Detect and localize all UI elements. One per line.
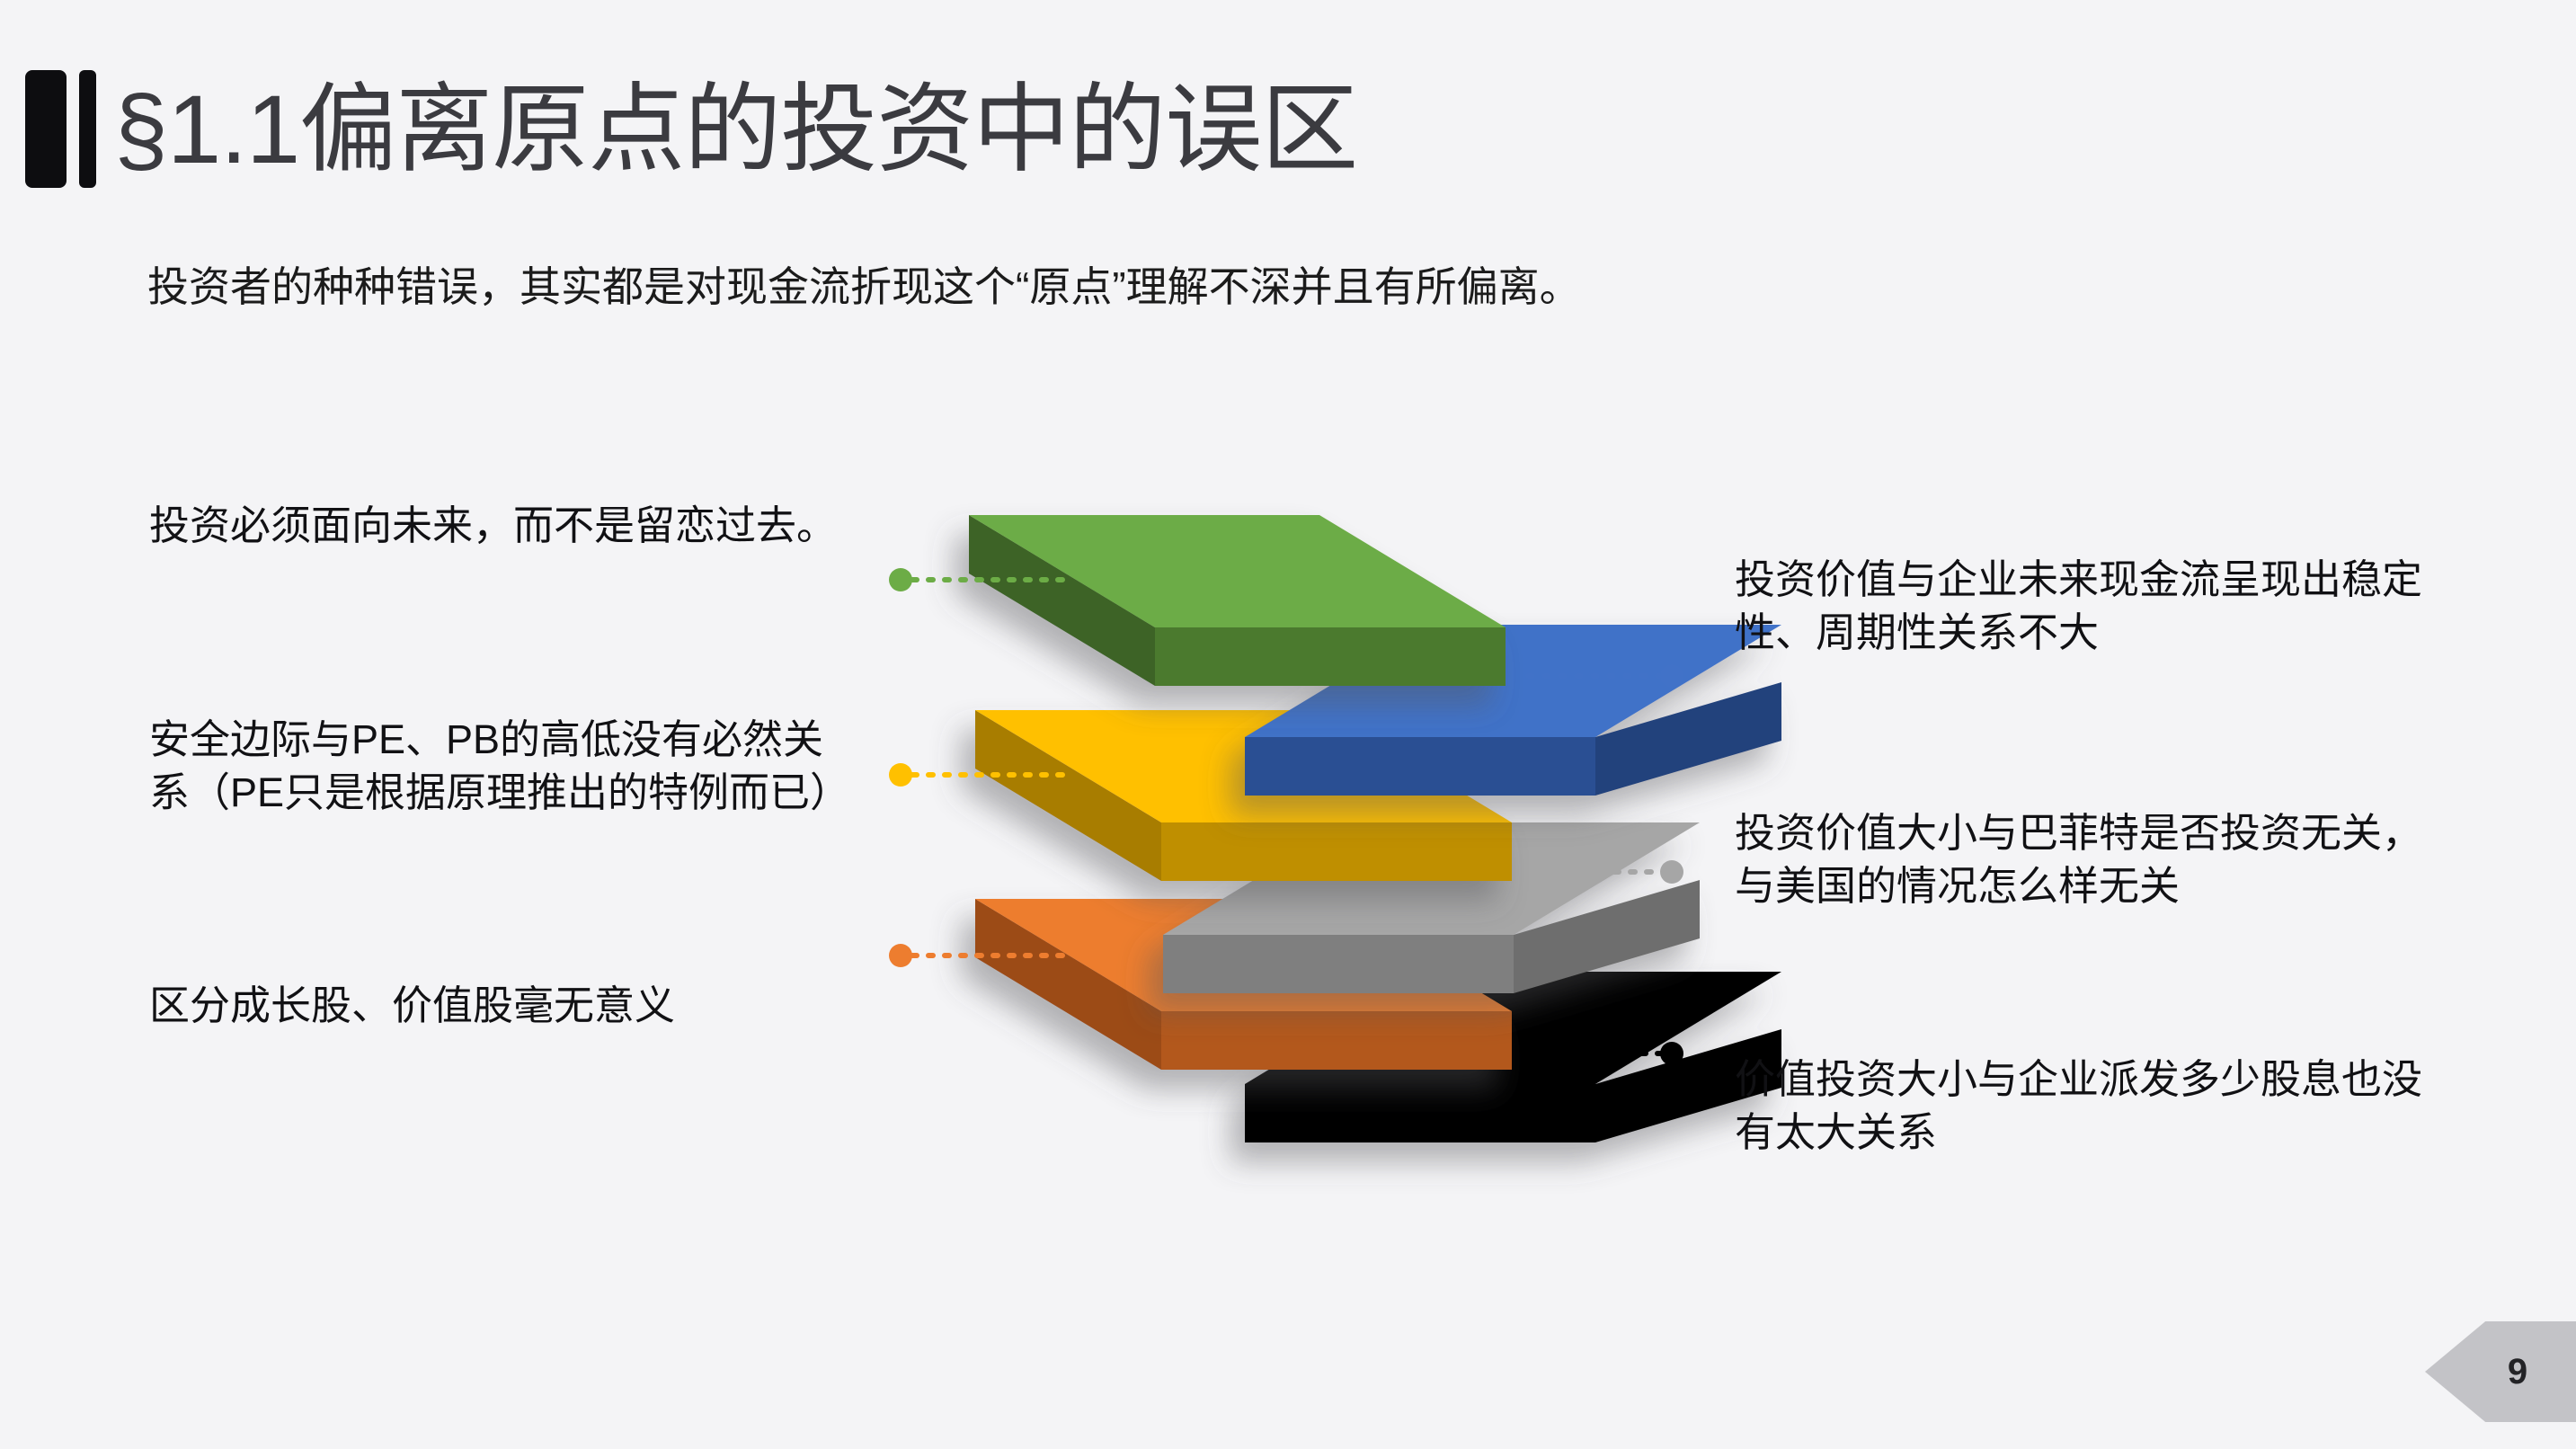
callout-left-2: 安全边际与PE、PB的高低没有必然关系（PE只是根据原理推出的特例而已） (149, 714, 859, 819)
connector-blue-dot (1660, 664, 1683, 688)
callout-left-1: 投资必须面向未来，而不是留恋过去。 (149, 500, 859, 553)
green-layer-top (969, 515, 1506, 627)
blue-layer (1245, 625, 1781, 796)
connector-yellow (889, 763, 1063, 787)
connector-blue (1528, 664, 1683, 688)
page-title-text: §1.1偏离原点的投资中的误区 (114, 81, 1357, 178)
grey-layer-side (1163, 935, 1514, 993)
connector-black (1528, 1042, 1683, 1065)
grey-layer-top (1163, 822, 1700, 935)
blue-layer-side (1245, 737, 1595, 796)
blue-layer-top (1245, 625, 1781, 737)
title-bar-wide-icon (25, 70, 67, 188)
connector-grey (1533, 860, 1683, 884)
callout-right-2: 投资价值大小与巴菲特是否投资无关，与美国的情况怎么样无关 (1735, 807, 2454, 912)
yellow-layer-left-edge (975, 710, 1161, 881)
yellow-layer (975, 710, 1512, 881)
green-layer-front (1155, 627, 1506, 686)
grey-layer (1163, 822, 1700, 993)
black-layer-side (1245, 1084, 1595, 1142)
title-bar-thin-icon (79, 70, 96, 188)
page-subtitle: 投资者的种种错误，其实都是对现金流折现这个“原点”理解不深并且有所偏离。 (147, 259, 1581, 315)
orange-layer-front (1161, 1011, 1512, 1070)
slide-canvas: §1.1偏离原点的投资中的误区 投资者的种种错误，其实都是对现金流折现这个“原点… (0, 0, 2576, 1449)
connector-yellow-dot (889, 763, 912, 787)
title-bars-icon (25, 70, 96, 188)
connector-orange (889, 944, 1063, 967)
page-number-badge: 9 (2425, 1321, 2576, 1422)
yellow-layer-top (975, 710, 1512, 822)
connector-grey-dot (1660, 860, 1683, 884)
orange-layer-left-edge (975, 899, 1161, 1070)
page-title: §1.1偏离原点的投资中的误区 (25, 70, 1357, 188)
blue-layer-edge (1595, 682, 1781, 796)
connector-green-dot (889, 568, 912, 591)
yellow-layer-front (1161, 822, 1512, 881)
orange-layer-top (975, 899, 1512, 1011)
page-number-text: 9 (2425, 1321, 2576, 1422)
connector-black-dot (1660, 1042, 1683, 1065)
orange-layer (975, 899, 1512, 1070)
callout-right-1: 投资价值与企业未来现金流呈现出稳定性、周期性关系不大 (1735, 554, 2454, 659)
connector-orange-dot (889, 944, 912, 967)
black-layer-top (1245, 972, 1781, 1084)
green-layer (969, 515, 1506, 686)
green-layer-left-edge (969, 515, 1155, 686)
callout-right-3: 价值投资大小与企业派发多少股息也没有太大关系 (1735, 1053, 2454, 1159)
grey-layer-edge (1514, 880, 1700, 993)
black-layer (1245, 972, 1781, 1142)
callout-left-3: 区分成长股、价值股毫无意义 (149, 980, 859, 1033)
connector-green (889, 568, 1063, 591)
